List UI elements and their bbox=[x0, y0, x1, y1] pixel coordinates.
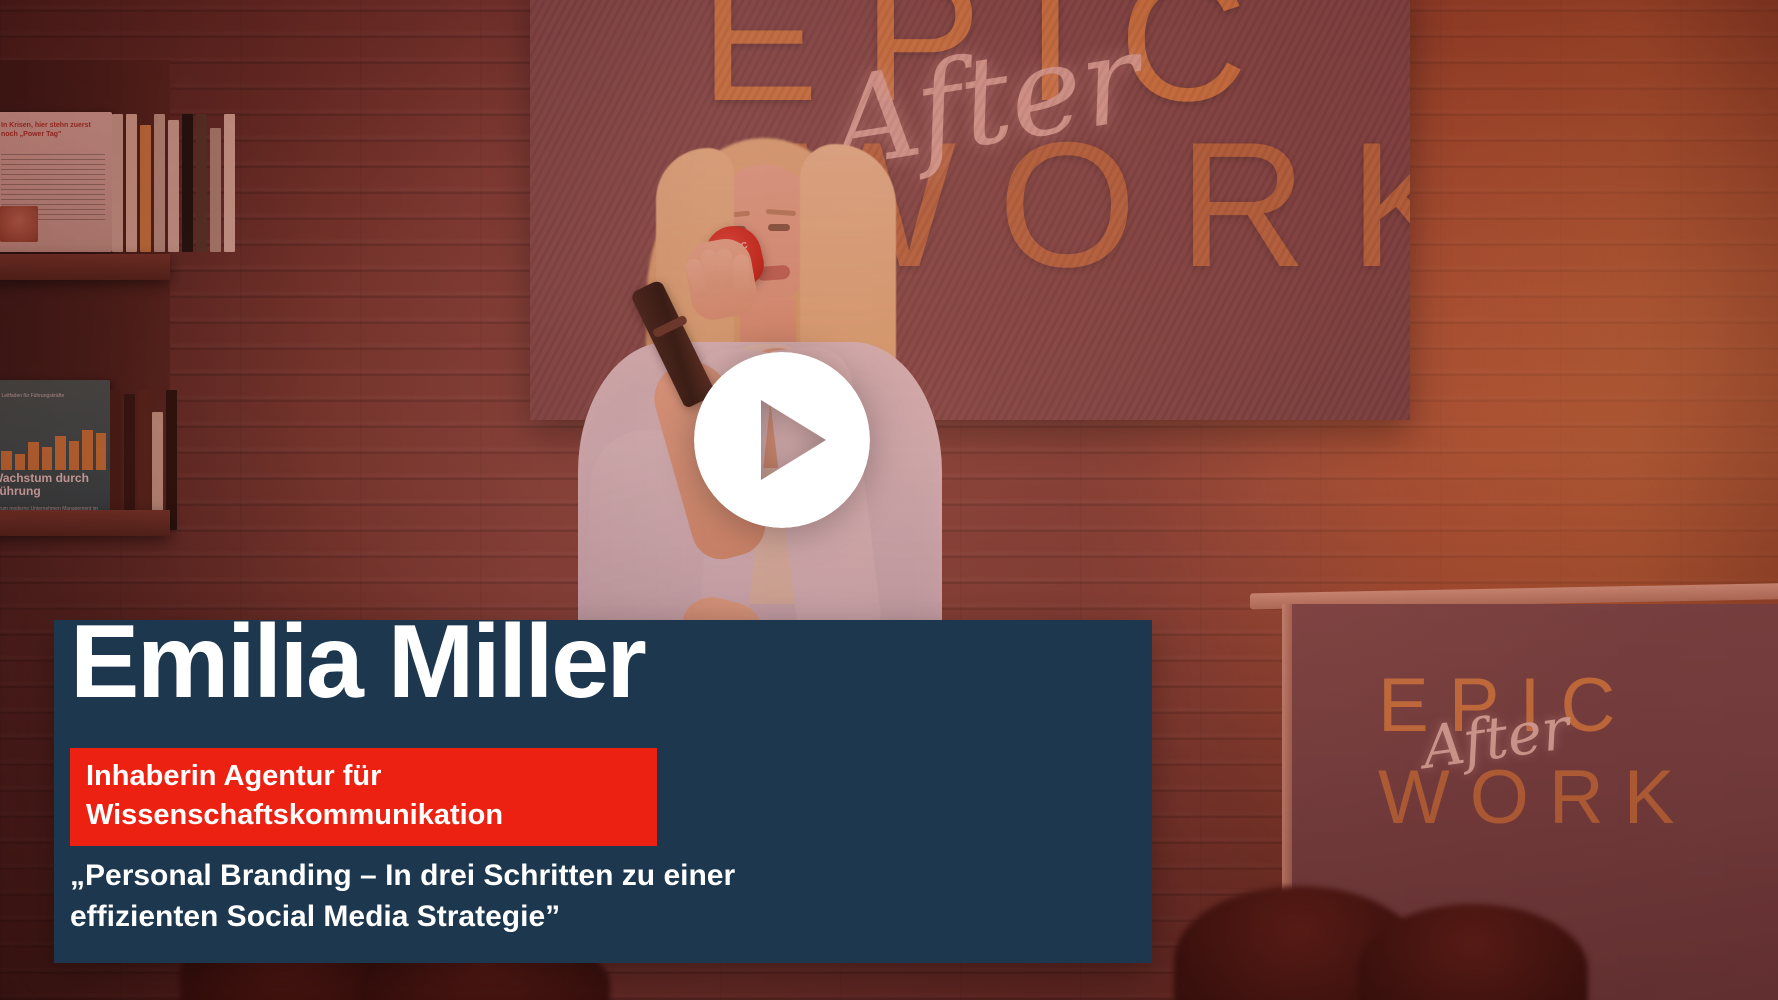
speaker-role-badge: Inhaberin Agentur für Wissenschaftskommu… bbox=[70, 748, 657, 846]
play-triangle-icon bbox=[694, 352, 870, 528]
book-spines-upper bbox=[112, 114, 235, 252]
book-cover-front: In Krisen, hier stehn zuerst noch „Power… bbox=[0, 112, 112, 252]
backdrop-brand-line1: EPIC bbox=[700, 0, 1291, 141]
bookshelf-board-lower bbox=[0, 510, 170, 536]
book-spines-lower bbox=[110, 390, 177, 530]
talk-title: „Personal Branding – In drei Schritten z… bbox=[70, 856, 770, 938]
book-front-photo bbox=[0, 206, 38, 242]
book-lower-title: Wachstum durch Führung bbox=[0, 472, 102, 499]
speaker-name: Emilia Miller bbox=[70, 610, 644, 714]
lower-third-banner: Emilia Miller Inhaberin Agentur für Wiss… bbox=[54, 620, 1152, 963]
book-cover-bar-graphic bbox=[0, 428, 106, 470]
bookshelf-board-upper bbox=[0, 254, 170, 280]
book-front-headline: In Krisen, hier stehn zuerst noch „Power… bbox=[1, 121, 105, 140]
play-button[interactable] bbox=[694, 352, 870, 528]
bookshelf: In Krisen, hier stehn zuerst noch „Power… bbox=[0, 60, 170, 530]
book-lower-kicker: Der Leitfaden für Führungskräfte bbox=[0, 392, 102, 400]
speaker-eye-right bbox=[768, 224, 790, 231]
video-player[interactable]: In Krisen, hier stehn zuerst noch „Power… bbox=[0, 0, 1778, 1000]
book-cover-lower: Der Leitfaden für Führungskräfte Wachstu… bbox=[0, 380, 110, 530]
